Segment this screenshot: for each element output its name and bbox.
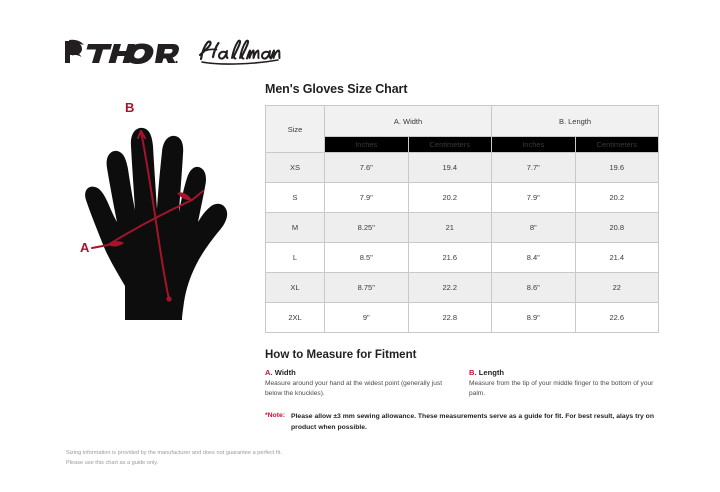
table-row: M 8.25" 21 8" 20.8 (266, 213, 659, 243)
cell-length-centimeters: 19.6 (575, 153, 659, 183)
note-text: Please allow ±3 mm sewing allowance. The… (291, 412, 659, 433)
note-label: *Note: (265, 412, 285, 419)
column-header-width-inches: Inches (325, 137, 409, 153)
measure-columns: A. Width Measure around your hand at the… (265, 368, 659, 399)
hand-measurement-figure: B A (62, 90, 262, 335)
measure-length-body: Measure from the tip of your middle fing… (469, 379, 659, 399)
table-row: S 7.9" 20.2 7.9" 20.2 (266, 183, 659, 213)
size-chart-table: Size A. Width B. Length Inches Centimete… (265, 105, 659, 333)
cell-size: 2XL (266, 303, 325, 333)
column-header-size: Size (266, 106, 325, 153)
footer-disclaimer: Sizing information is provided by the ma… (66, 448, 366, 468)
table-row: XS 7.6" 19.4 7.7" 19.6 (266, 153, 659, 183)
cell-width-centimeters: 22.8 (408, 303, 492, 333)
cell-length-inches: 8" (492, 213, 576, 243)
measure-width-block: A. Width Measure around your hand at the… (265, 368, 455, 399)
cell-size: XS (266, 153, 325, 183)
column-header-width-group: A. Width (325, 106, 492, 137)
measure-length-block: B. Length Measure from the tip of your m… (469, 368, 659, 399)
measure-length-heading: B. Length (469, 368, 659, 377)
column-header-length-group: B. Length (492, 106, 659, 137)
cell-length-centimeters: 22 (575, 273, 659, 303)
measure-width-body: Measure around your hand at the widest p… (265, 379, 455, 399)
measure-length-letter: B. (469, 368, 477, 377)
cell-width-centimeters: 22.2 (408, 273, 492, 303)
size-chart-content: Men's Gloves Size Chart Size A. Width B.… (265, 82, 659, 434)
cell-width-centimeters: 21.6 (408, 243, 492, 273)
column-header-width-centimeters: Centimeters (408, 137, 492, 153)
footer-line-2: Please use this chart as a guide only. (66, 458, 366, 468)
table-header: Size A. Width B. Length Inches Centimete… (266, 106, 659, 153)
cell-width-centimeters: 19.4 (408, 153, 492, 183)
cell-width-inches: 8.75" (325, 273, 409, 303)
footer-line-1: Sizing information is provided by the ma… (66, 448, 366, 458)
table-row: XL 8.75" 22.2 8.6" 22 (266, 273, 659, 303)
how-to-measure-section: How to Measure for Fitment A. Width Meas… (265, 349, 659, 434)
cell-length-inches: 7.7" (492, 153, 576, 183)
measure-width-letter: A. (265, 368, 273, 377)
cell-length-inches: 8.4" (492, 243, 576, 273)
measure-length-name: Length (479, 368, 504, 377)
cell-width-inches: 7.9" (325, 183, 409, 213)
note-row: *Note: Please allow ±3 mm sewing allowan… (265, 412, 659, 433)
cell-size: L (266, 243, 325, 273)
measure-width-heading: A. Width (265, 368, 455, 377)
cell-width-inches: 8.25" (325, 213, 409, 243)
width-label-a: A (80, 240, 90, 255)
table-header-unit-row: Inches Centimeters Inches Centimeters (266, 137, 659, 153)
table-body: XS 7.6" 19.4 7.7" 19.6 S 7.9" 20.2 7.9" … (266, 153, 659, 333)
cell-length-centimeters: 20.2 (575, 183, 659, 213)
page-title: Men's Gloves Size Chart (265, 82, 659, 96)
cell-width-inches: 7.6" (325, 153, 409, 183)
length-label-b: B (125, 100, 134, 115)
column-header-length-inches: Inches (492, 137, 576, 153)
cell-length-centimeters: 22.6 (575, 303, 659, 333)
table-header-group-row: Size A. Width B. Length (266, 106, 659, 137)
column-header-length-centimeters: Centimeters (575, 137, 659, 153)
cell-length-centimeters: 21.4 (575, 243, 659, 273)
cell-width-inches: 9" (325, 303, 409, 333)
table-row: L 8.5" 21.6 8.4" 21.4 (266, 243, 659, 273)
cell-width-centimeters: 21 (408, 213, 492, 243)
cell-length-inches: 8.6" (492, 273, 576, 303)
cell-length-inches: 8.9" (492, 303, 576, 333)
cell-size: S (266, 183, 325, 213)
hallman-logo (194, 37, 282, 67)
cell-width-centimeters: 20.2 (408, 183, 492, 213)
cell-length-inches: 7.9" (492, 183, 576, 213)
brand-logo-bar (62, 30, 282, 74)
measure-width-name: Width (275, 368, 296, 377)
cell-size: M (266, 213, 325, 243)
cell-width-inches: 8.5" (325, 243, 409, 273)
cell-length-centimeters: 20.8 (575, 213, 659, 243)
thor-logo (62, 37, 180, 67)
cell-size: XL (266, 273, 325, 303)
table-row: 2XL 9" 22.8 8.9" 22.6 (266, 303, 659, 333)
how-to-measure-title: How to Measure for Fitment (265, 349, 659, 361)
